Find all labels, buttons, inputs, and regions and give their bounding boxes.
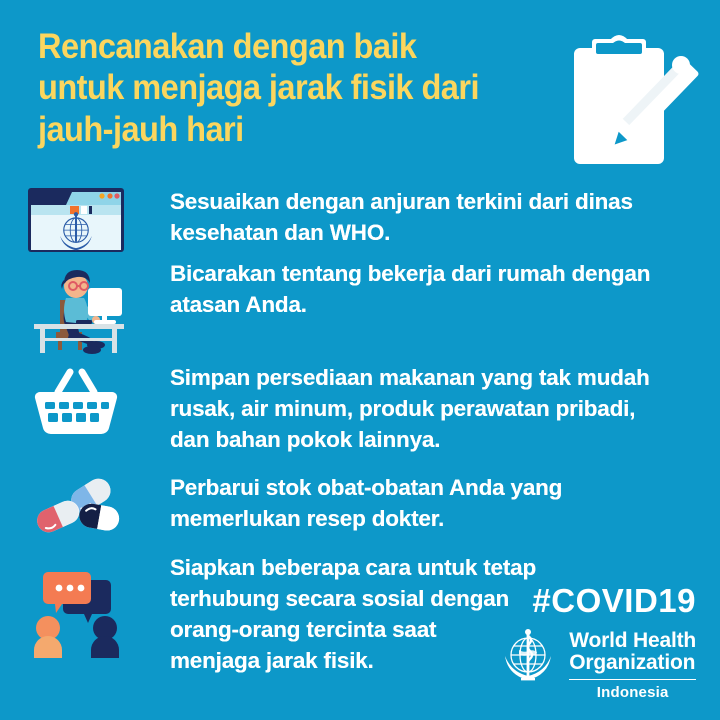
pills-capsules-icon xyxy=(26,472,138,544)
who-logo-block: World Health Organization Indonesia xyxy=(497,628,696,701)
who-name-line-2: Organization xyxy=(569,652,696,674)
page-title: Rencanakan dengan baik untuk menjaga jar… xyxy=(38,26,522,150)
list-item-text: Bicarakan tentang bekerja dari rumah den… xyxy=(170,258,650,320)
item-2-line-1: Bicarakan tentang bekerja dari rumah den… xyxy=(170,258,650,289)
clipboard-pencil-icon xyxy=(562,26,712,176)
item-4-line-1: Perbarui stok obat-obatan Anda yang xyxy=(170,472,562,503)
who-name-line-1: World Health xyxy=(569,630,696,652)
item-4-line-2: memerlukan resep dokter. xyxy=(170,503,562,534)
list-item-text: Simpan persediaan makanan yang tak mudah… xyxy=(170,362,650,455)
item-5-line-1: Siapkan beberapa cara untuk tetap xyxy=(170,552,536,583)
item-2-line-2: atasan Anda. xyxy=(170,289,650,320)
who-divider xyxy=(569,679,696,681)
headline-line-3: jauh-jauh hari xyxy=(38,109,522,150)
item-1-line-2: kesehatan dan WHO. xyxy=(170,217,633,248)
browser-who-window-icon xyxy=(26,186,138,254)
who-emblem-icon xyxy=(497,628,559,690)
list-item-text: Perbarui stok obat-obatan Anda yang meme… xyxy=(170,472,562,534)
list-item-text: Siapkan beberapa cara untuk tetap terhub… xyxy=(170,552,536,676)
who-country-label: Indonesia xyxy=(569,684,696,701)
item-3-line-1: Simpan persediaan makanan yang tak mudah xyxy=(170,362,650,393)
item-5-line-3: orang-orang tercinta saat xyxy=(170,614,536,645)
covid19-hashtag: #COVID19 xyxy=(532,582,696,620)
chat-bubbles-people-icon xyxy=(26,552,138,658)
person-at-desk-computer-icon xyxy=(26,258,138,354)
headline-line-2: untuk menjaga jarak fisik dari xyxy=(38,67,522,108)
list-item-text: Sesuaikan dengan anjuran terkini dari di… xyxy=(170,186,633,248)
headline-line-1: Rencanakan dengan baik xyxy=(38,26,522,67)
item-5-line-2: terhubung secara sosial dengan xyxy=(170,583,536,614)
item-3-line-3: dan bahan pokok lainnya. xyxy=(170,424,650,455)
poster-canvas: Rencanakan dengan baik untuk menjaga jar… xyxy=(0,0,720,720)
item-5-line-4: menjaga jarak fisik. xyxy=(170,645,536,676)
item-1-line-1: Sesuaikan dengan anjuran terkini dari di… xyxy=(170,186,633,217)
item-3-line-2: rusak, air minum, produk perawatan priba… xyxy=(170,393,650,424)
shopping-basket-icon xyxy=(26,362,138,440)
